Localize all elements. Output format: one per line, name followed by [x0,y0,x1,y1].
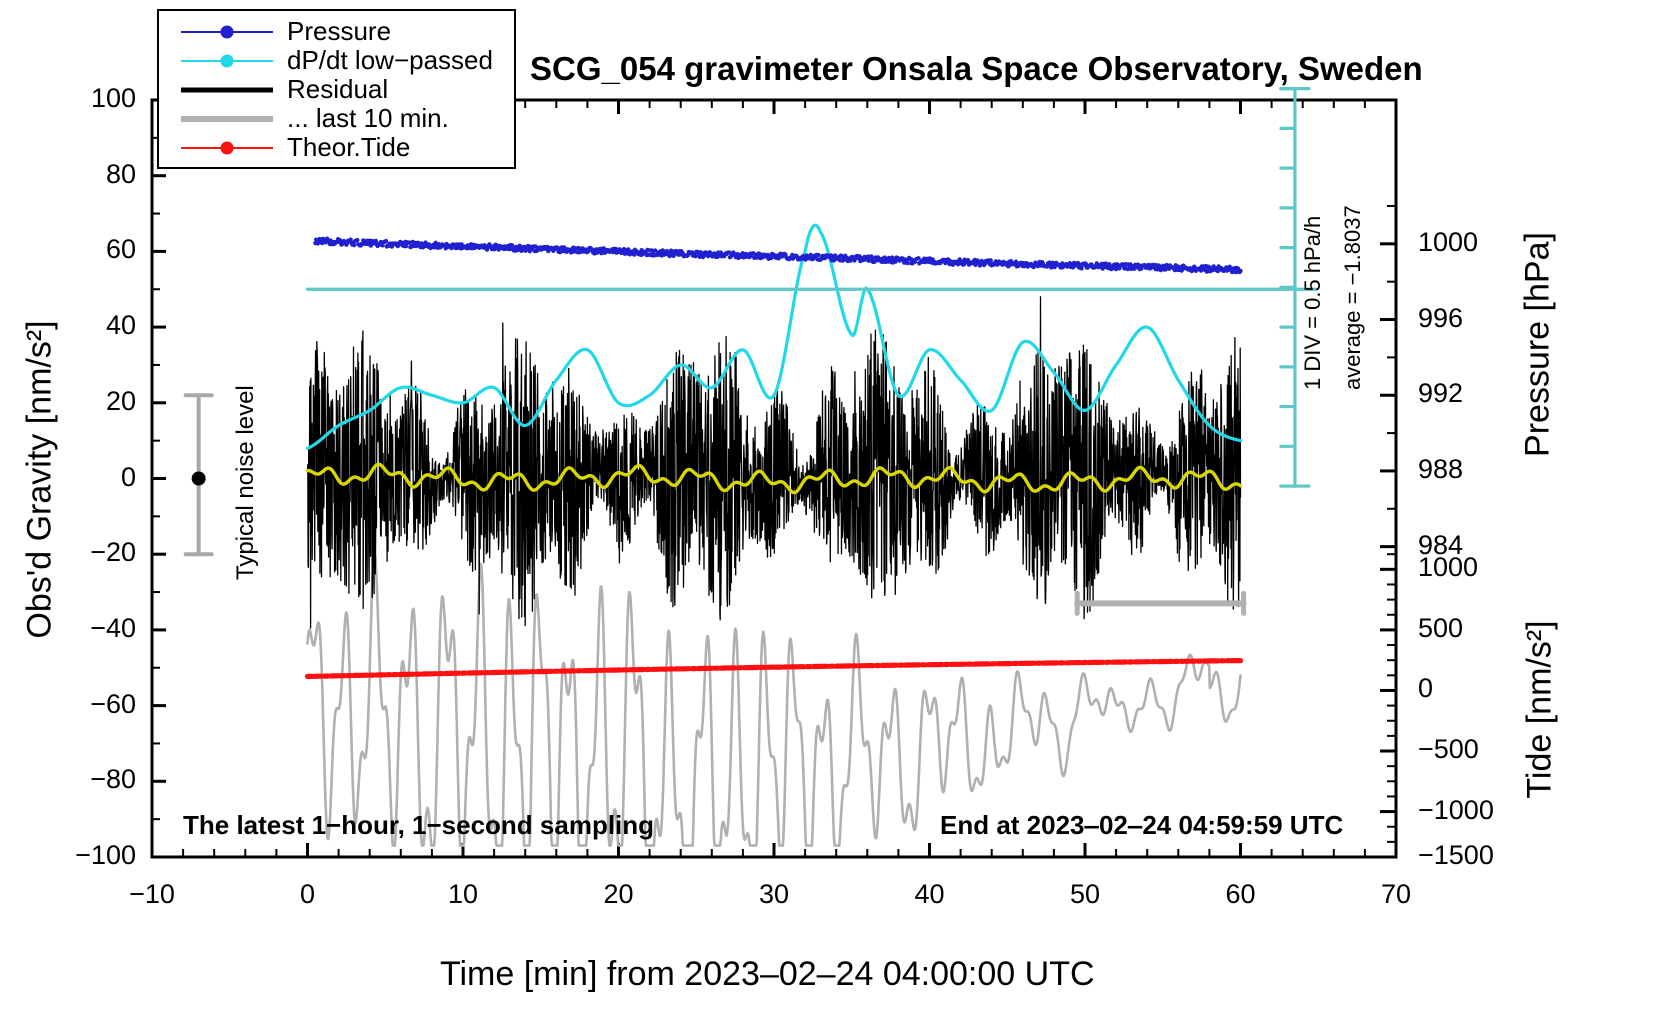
legend-swatch-icon [181,137,273,159]
x-tick-label: 50 [1070,879,1100,910]
pressure-tick-label: 988 [1418,454,1463,485]
legend-swatch-icon [181,108,273,130]
legend-line-icon [181,116,273,122]
tide-tick-label: −1500 [1418,840,1494,871]
y-axis-tide-title: Tide [nm/s²] [1521,570,1560,850]
y-left-tick-label: 80 [106,159,136,190]
legend-swatch-icon [181,21,273,43]
tide-tick-label: 1000 [1418,552,1478,583]
tide-tick-label: 500 [1418,613,1463,644]
legend-item: dP/dt low−passed [159,46,514,75]
y-left-tick-label: −60 [90,689,136,720]
legend-item-label: Theor.Tide [287,132,410,163]
legend-item: Theor.Tide [159,133,514,162]
legend-item-label: ... last 10 min. [287,103,449,134]
pressure-tick-label: 992 [1418,378,1463,409]
tide-tick-label: 0 [1418,673,1433,704]
legend-marker-icon [221,54,234,67]
footer-right-note: End at 2023‒02‒24 04:59:59 UTC [940,810,1343,841]
legend-marker-icon [221,141,234,154]
legend-item: Pressure [159,17,514,46]
legend-item-label: Residual [287,74,388,105]
x-tick-label: 20 [603,879,633,910]
y-left-tick-label: −40 [90,613,136,644]
x-tick-label: 60 [1225,879,1255,910]
gravimeter-plot: SCG_054 gravimeter Onsala Space Observat… [0,0,1660,1020]
footer-left-note: The latest 1−hour, 1−second sampling [183,810,654,841]
tide-tick-label: −500 [1418,734,1479,765]
legend-swatch-icon [181,79,273,101]
x-tick-label: 0 [300,879,315,910]
y-axis-pressure-title: Pressure [hPa] [1519,165,1558,525]
x-tick-label: 70 [1381,879,1411,910]
y-left-tick-label: −20 [90,537,136,568]
legend-item: ... last 10 min. [159,104,514,133]
pressure-tick-label: 1000 [1418,227,1478,258]
y-left-tick-label: −100 [75,840,136,871]
noise-level-note: Typical noise level [232,385,260,580]
y-left-tick-label: 20 [106,386,136,417]
average-note: average = −1.8037 [1340,205,1366,390]
y-axis-left-title: Obs'd Gravity [nm/s²] [21,270,60,690]
page-title: SCG_054 gravimeter Onsala Space Observat… [530,50,1423,88]
y-left-tick-label: 40 [106,310,136,341]
y-left-tick-label: 0 [121,462,136,493]
x-tick-label: 30 [759,879,789,910]
x-axis-title: Time [min] from 2023‒02‒24 04:00:00 UTC [440,955,1095,994]
legend-item-label: Pressure [287,16,391,47]
y-left-tick-label: 60 [106,234,136,265]
legend-item: Residual [159,75,514,104]
legend-item-label: dP/dt low−passed [287,45,493,76]
legend: PressuredP/dt low−passedResidual... last… [157,9,516,169]
tide-tick-label: −1000 [1418,795,1494,826]
legend-swatch-icon [181,50,273,72]
pressure-tick-label: 996 [1418,303,1463,334]
legend-marker-icon [221,25,234,38]
y-left-tick-label: 100 [91,83,136,114]
legend-line-icon [181,87,273,92]
x-tick-label: 10 [448,879,478,910]
scale-division-note: 1 DIV = 0.5 hPa/h [1300,216,1326,390]
y-left-tick-label: −80 [90,764,136,795]
x-tick-label: −10 [129,879,175,910]
x-tick-label: 40 [914,879,944,910]
